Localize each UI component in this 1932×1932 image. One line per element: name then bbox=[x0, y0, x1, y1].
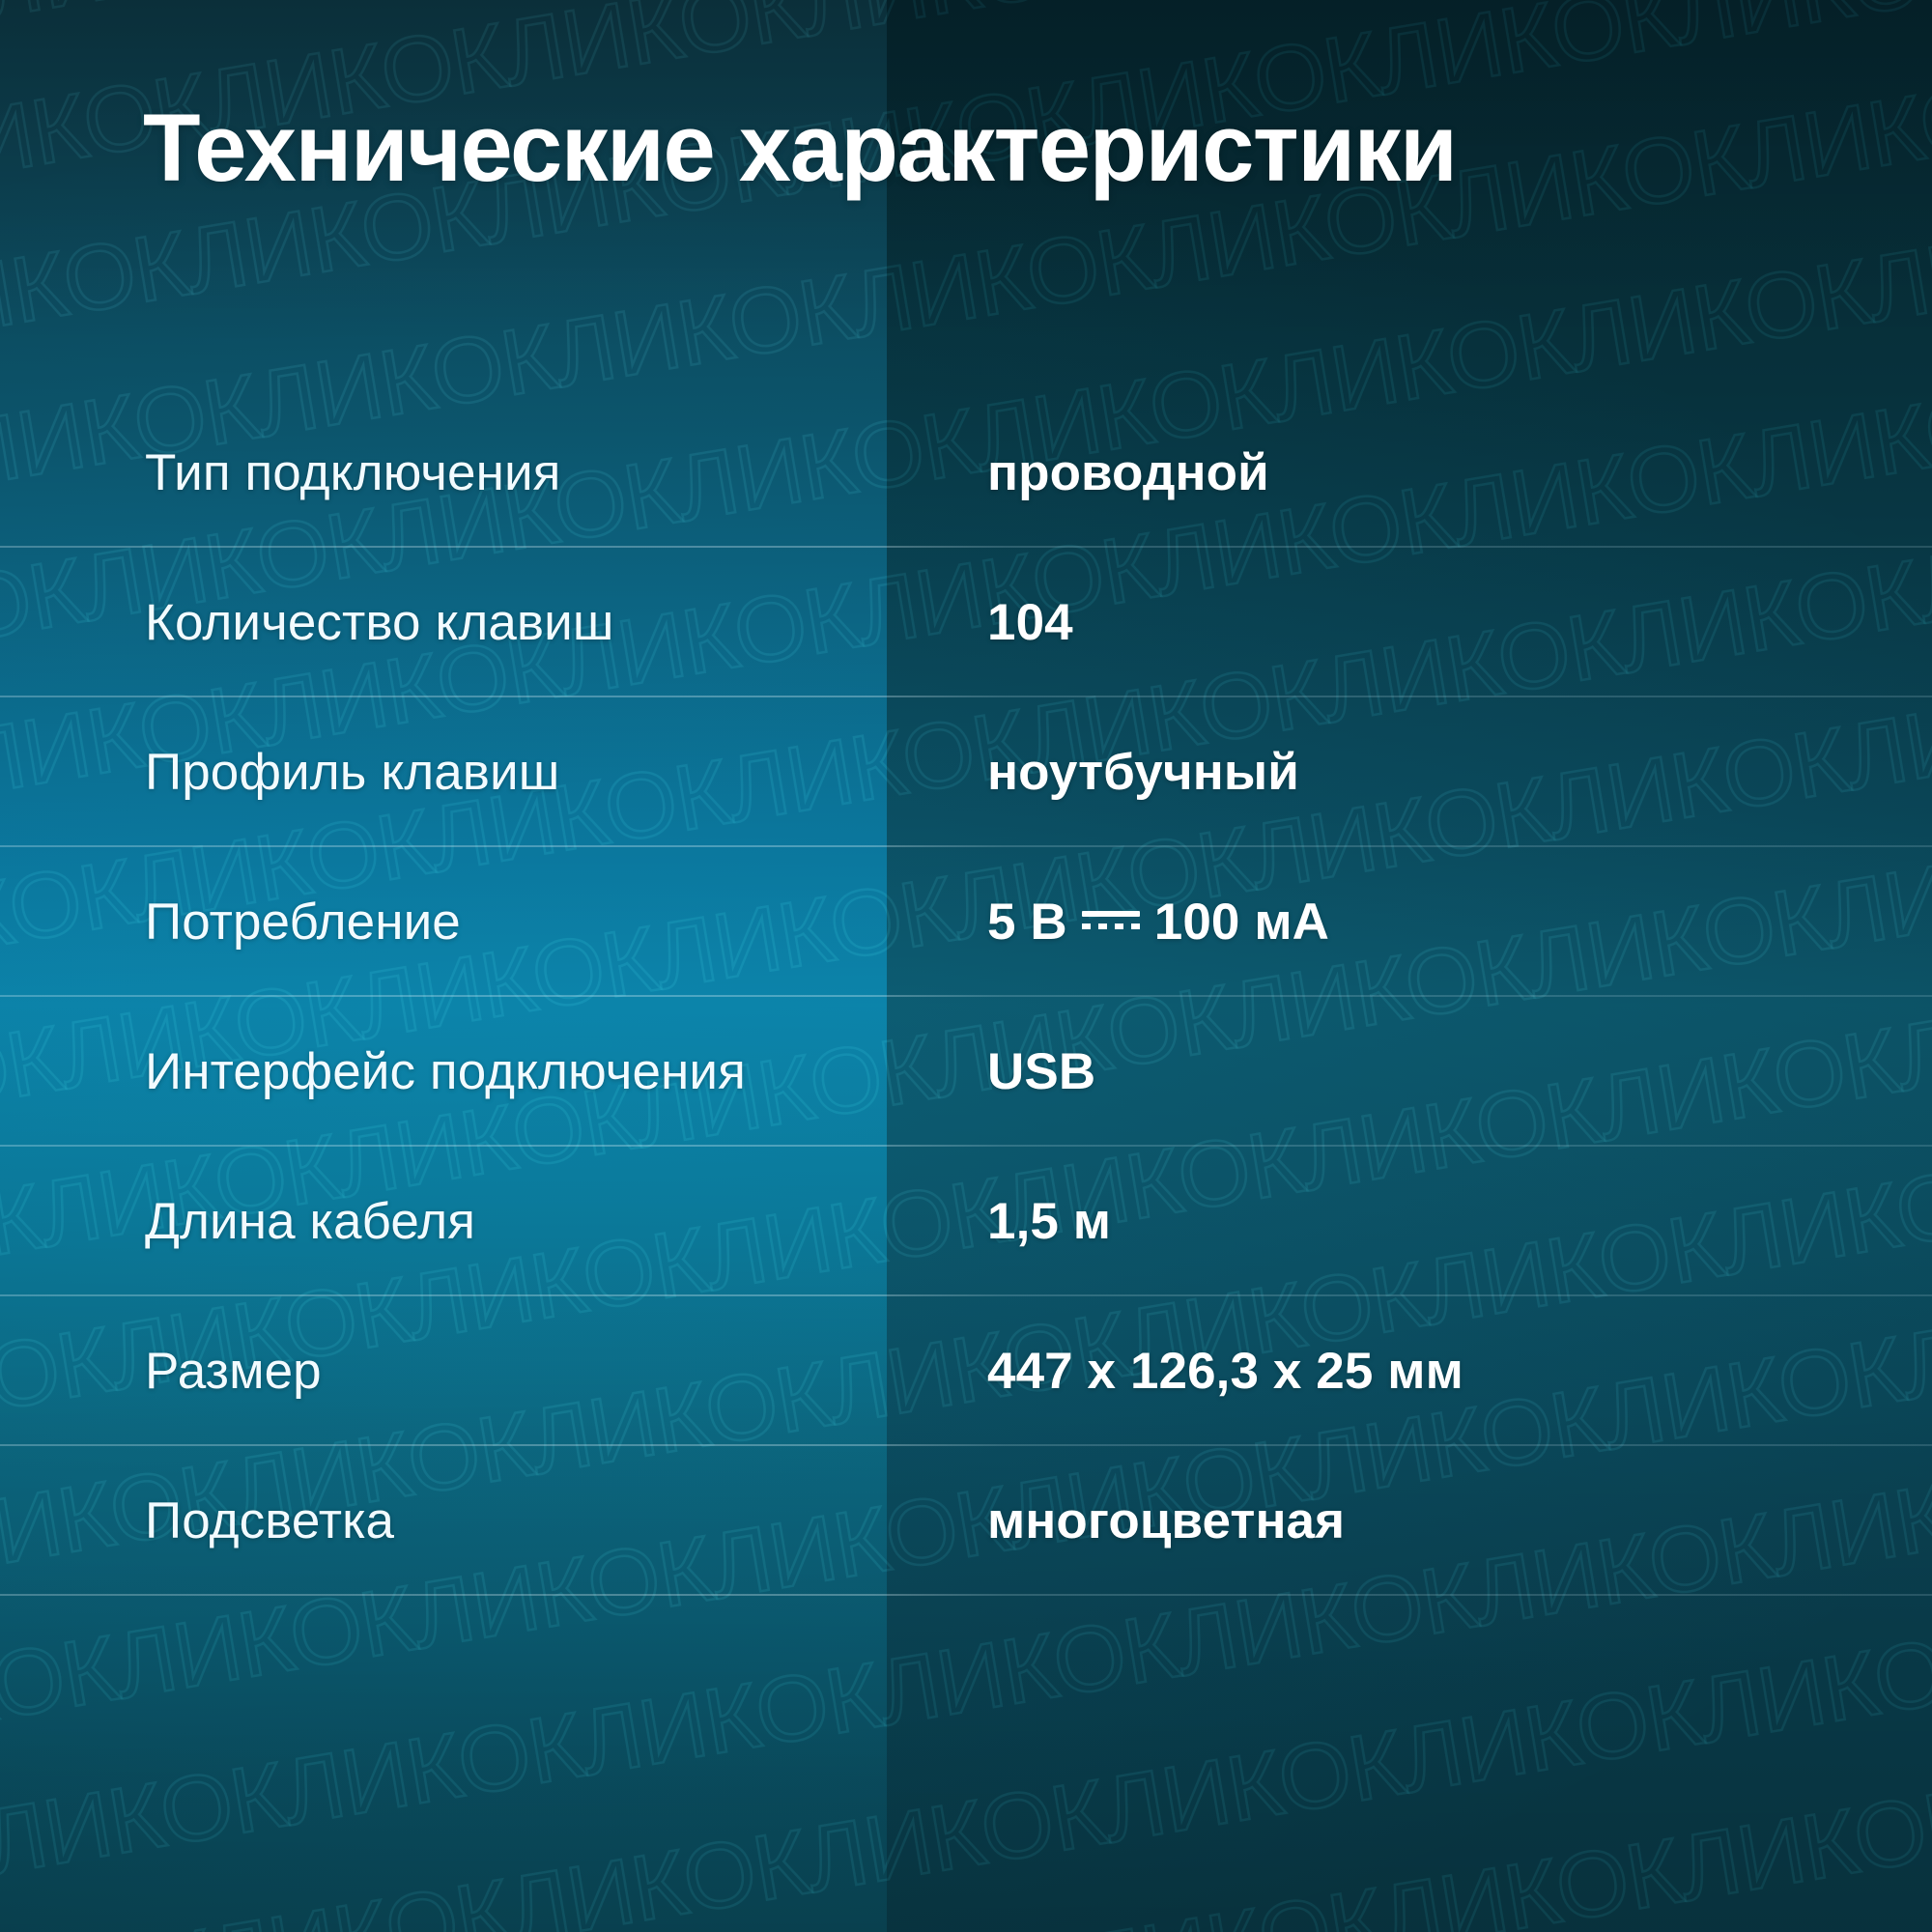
dc-current-symbol-icon bbox=[1082, 911, 1140, 929]
spec-value: USB bbox=[887, 1042, 1932, 1101]
spec-label: Длина кабеля bbox=[0, 1192, 887, 1251]
spec-table: Тип подключенияпроводнойКоличество клави… bbox=[0, 398, 1932, 1596]
spec-row: Потребление5 В100 мА bbox=[0, 847, 1932, 997]
spec-row: Интерфейс подключенияUSB bbox=[0, 997, 1932, 1147]
spec-row: Профиль клавишноутбучный bbox=[0, 697, 1932, 847]
spec-value: 447 x 126,3 x 25 мм bbox=[887, 1342, 1932, 1401]
spec-value: проводной bbox=[887, 443, 1932, 502]
page-title: Технические характеристики bbox=[143, 99, 1456, 195]
spec-row: Тип подключенияпроводной bbox=[0, 398, 1932, 548]
spec-value: ноутбучный bbox=[887, 743, 1932, 802]
spec-row: Размер447 x 126,3 x 25 мм bbox=[0, 1296, 1932, 1446]
spec-row: Длина кабеля1,5 м bbox=[0, 1147, 1932, 1296]
spec-label: Профиль клавиш bbox=[0, 743, 887, 802]
spec-value: 104 bbox=[887, 593, 1932, 652]
spec-label: Количество клавиш bbox=[0, 593, 887, 652]
spec-row: Подсветкамногоцветная bbox=[0, 1446, 1932, 1596]
spec-value-prefix: 5 В bbox=[987, 893, 1067, 952]
spec-label: Интерфейс подключения bbox=[0, 1042, 887, 1101]
spec-label: Потребление bbox=[0, 893, 887, 952]
spec-row: Количество клавиш104 bbox=[0, 548, 1932, 697]
spec-label: Размер bbox=[0, 1342, 887, 1401]
spec-value: 1,5 м bbox=[887, 1192, 1932, 1251]
spec-label: Тип подключения bbox=[0, 443, 887, 502]
spec-card: КЛИКОКЛИКОКЛИКОКЛИКОКЛИКОКЛИКОКЛИКОКЛИКО… bbox=[0, 0, 1932, 1932]
spec-value-suffix: 100 мА bbox=[1154, 893, 1329, 952]
spec-value: 5 В100 мА bbox=[887, 893, 1932, 952]
spec-label: Подсветка bbox=[0, 1492, 887, 1550]
spec-value: многоцветная bbox=[887, 1492, 1932, 1550]
